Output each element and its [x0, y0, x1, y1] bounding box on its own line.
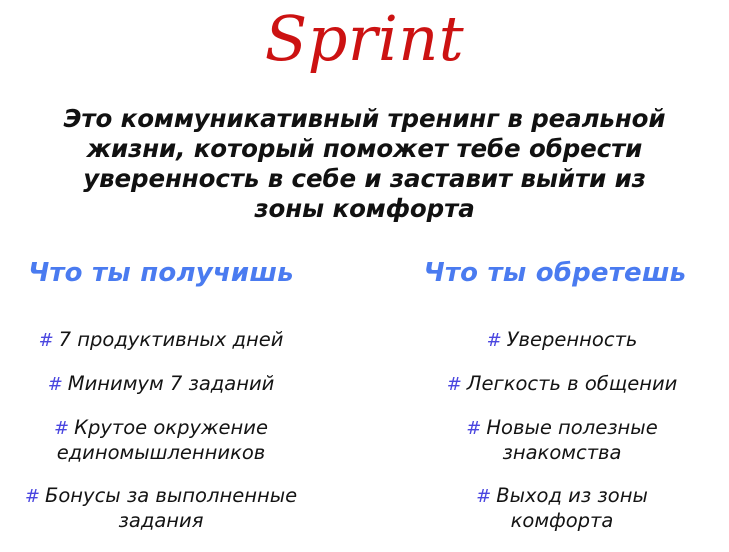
list-item: #Легкость в общении	[434, 372, 690, 397]
hash-marker-icon: #	[447, 374, 462, 395]
list-item-label: Крутое окружение единомышленников	[57, 416, 268, 464]
list-item-label: Легкость в общении	[467, 372, 678, 395]
list-item: #7 продуктивных дней	[20, 328, 302, 353]
column-heading-left: Что ты получишь	[20, 258, 302, 288]
list-item: #Выход из зоны комфорта	[434, 484, 690, 533]
hash-marker-icon: #	[487, 330, 502, 351]
list-item: #Уверенность	[434, 328, 690, 353]
list-item-label: Выход из зоны комфорта	[496, 484, 648, 532]
list-item: #Крутое окружение единомышленников	[20, 416, 302, 465]
slide-canvas: Sprint Это коммуникативный тренинг в реа…	[0, 0, 729, 544]
list-item-label: 7 продуктивных дней	[59, 328, 284, 351]
list-item: #Минимум 7 заданий	[20, 372, 302, 397]
hash-marker-icon: #	[476, 486, 491, 507]
page-title: Sprint	[0, 2, 729, 76]
list-item-label: Минимум 7 заданий	[68, 372, 275, 395]
hash-marker-icon: #	[466, 418, 481, 439]
column-heading-right: Что ты обретешь	[420, 258, 690, 288]
list-item-label: Уверенность	[507, 328, 638, 351]
slide-subtitle: Это коммуникативный тренинг в реальной ж…	[52, 104, 677, 224]
hash-marker-icon: #	[39, 330, 54, 351]
hash-marker-icon: #	[48, 374, 63, 395]
list-item: #Бонусы за выполненные задания	[20, 484, 302, 533]
bullet-list-left: #7 продуктивных дней #Минимум 7 заданий …	[18, 328, 420, 533]
column-what-you-get: Что ты получишь #7 продуктивных дней #Ми…	[0, 258, 420, 552]
list-item-label: Бонусы за выполненные задания	[45, 484, 297, 532]
column-what-you-gain: Что ты обретешь #Уверенность #Легкость в…	[420, 258, 729, 552]
list-item: #Новые полезные знакомства	[434, 416, 690, 465]
hash-marker-icon: #	[54, 418, 69, 439]
hash-marker-icon: #	[25, 486, 40, 507]
columns-container: Что ты получишь #7 продуктивных дней #Ми…	[0, 258, 729, 552]
list-item-label: Новые полезные знакомства	[486, 416, 657, 464]
bullet-list-right: #Уверенность #Легкость в общении #Новые …	[420, 328, 729, 533]
